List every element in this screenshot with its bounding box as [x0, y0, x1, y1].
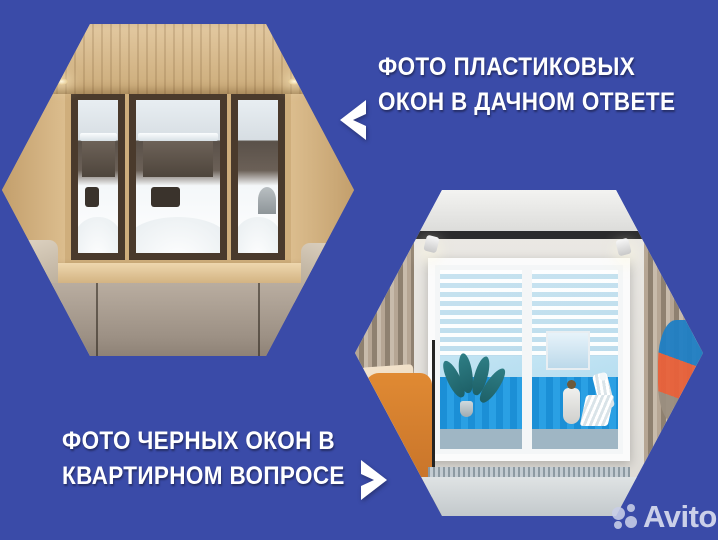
shed [82, 140, 115, 177]
potted-plant [447, 310, 498, 417]
side-table [563, 388, 580, 424]
plant-pot [460, 401, 473, 417]
snow-mound [129, 217, 227, 261]
avito-watermark: Avito [612, 501, 717, 532]
balcony-window [546, 331, 591, 370]
room-ceiling [355, 190, 703, 232]
ceiling-spotlight [288, 78, 301, 85]
balcony-door-frame [428, 258, 630, 460]
avito-wordmark: Avito [643, 501, 717, 532]
chevron-left-icon [336, 98, 370, 142]
balcony-floor [440, 429, 522, 449]
window-sash-right [231, 93, 284, 260]
caption-top-line2: ОКОН В ДАЧНОМ ОТВЕТЕ [378, 85, 675, 120]
caption-bottom: ФОТО ЧЕРНЫХ ОКОН В КВАРТИРНОМ ВОПРОСЕ [62, 424, 345, 493]
window-bench [20, 283, 337, 356]
balcony-floor [532, 429, 618, 449]
chevron-right-icon [357, 458, 391, 502]
window-sash-left [71, 93, 124, 260]
lounge-chair-seat [579, 395, 614, 426]
snow-mound [74, 217, 121, 261]
yard-object [151, 187, 180, 207]
wall-artwork [658, 320, 703, 424]
lounge-chair [583, 376, 611, 426]
dacha-window-scene [2, 24, 354, 356]
shed [143, 140, 214, 177]
promo-image: ФОТО ПЛАСТИКОВЫХ ОКОН В ДАЧНОМ ОТВЕТЕ ФО… [0, 0, 718, 540]
snow-mound [234, 217, 281, 261]
greenhouse [258, 187, 276, 213]
ceiling-spotlight [55, 78, 68, 85]
caption-bottom-line1: ФОТО ЧЕРНЫХ ОКОН В [62, 424, 345, 459]
apartment-balcony-scene [355, 190, 703, 516]
track-spotlight [423, 234, 439, 253]
window-frame [65, 87, 290, 266]
door-glass-right [527, 265, 623, 453]
yard-object [85, 187, 98, 207]
apartment-balcony-photo [355, 190, 703, 516]
caption-top-line1: ФОТО ПЛАСТИКОВЫХ [378, 50, 675, 85]
caption-bottom-line2: КВАРТИРНОМ ВОПРОСЕ [62, 459, 345, 494]
window-sash-center [129, 93, 227, 260]
cushion-right [301, 243, 347, 289]
caption-top: ФОТО ПЛАСТИКОВЫХ ОКОН В ДАЧНОМ ОТВЕТЕ [378, 50, 675, 119]
snow-view [238, 100, 277, 253]
ceiling-track [369, 231, 689, 239]
avito-dots-icon [612, 504, 638, 530]
lounge-chair-pillow [599, 372, 607, 381]
wood-ceiling [2, 24, 354, 94]
snow-view [78, 100, 117, 253]
snow-view [136, 100, 220, 253]
track-spotlight [615, 238, 631, 257]
dacha-window-photo [2, 24, 354, 356]
door-glass-left [435, 265, 527, 453]
